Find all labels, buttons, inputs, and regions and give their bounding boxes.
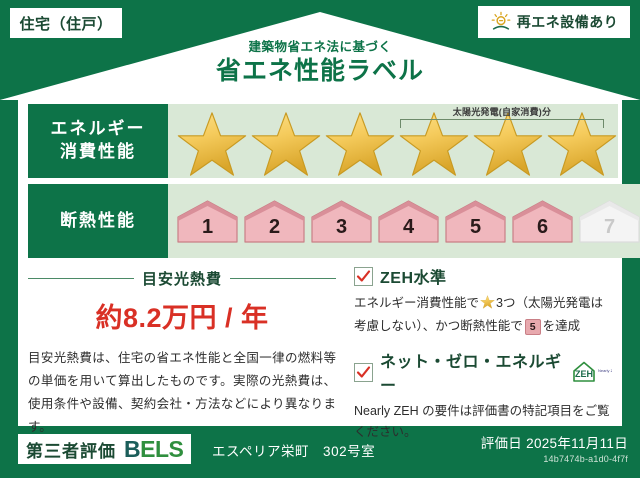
- insulation-level-3: 3: [310, 199, 373, 244]
- bels-logo: BELS: [124, 436, 183, 463]
- zeh-item-title: ZEH水準: [380, 264, 447, 288]
- svg-text:Nearly ZEH: Nearly ZEH: [598, 368, 612, 373]
- insulation-level-5: 5: [444, 199, 507, 244]
- sun-solar-icon: [490, 11, 512, 33]
- cost-column: 目安光熱費 約8.2万円 / 年 目安光熱費は、住宅の省エネ性能と全国一律の燃料…: [28, 264, 346, 424]
- document-id: 14b7474b-a1d0-4f7f: [481, 454, 628, 464]
- cost-heading-row: 目安光熱費: [28, 268, 336, 289]
- label-title-block: 建築物省エネ法に基づく 省エネ性能ラベル: [0, 40, 640, 87]
- insulation-level-2: 2: [243, 199, 306, 244]
- energy-star-4: [398, 110, 470, 178]
- insulation-level-6: 6: [511, 199, 574, 244]
- energy-star-2: [250, 110, 322, 178]
- energy-star-3: [324, 110, 396, 178]
- zeh-item-description: エネルギー消費性能で3つ（太陽光発電は考慮しない）、かつ断熱性能で5を達成: [354, 293, 612, 336]
- bels-logo-els: ELS: [140, 436, 183, 462]
- zeh-house-logo: ZEHNearly ZEH: [570, 359, 612, 385]
- bels-logo-b: B: [124, 436, 140, 462]
- estimated-cost-value: 約8.2万円 / 年: [28, 296, 336, 335]
- zeh-column: ZEH水準エネルギー消費性能で3つ（太陽光発電は考慮しない）、かつ断熱性能で5を…: [346, 264, 612, 424]
- insulation-level-number: 3: [310, 216, 373, 239]
- renewable-equipment-text: 再エネ設備あり: [517, 12, 619, 32]
- star-icon: [480, 298, 495, 312]
- insulation-label-text: 断熱性能: [60, 210, 136, 233]
- zeh-checkbox[interactable]: [354, 267, 373, 286]
- svg-text:ZEH: ZEH: [575, 369, 593, 379]
- insulation-level-number: 6: [511, 216, 574, 239]
- rule-right: [230, 278, 336, 279]
- energy-performance-row: エネルギー 消費性能 太陽光発電(自家消費)分: [28, 104, 612, 178]
- energy-star-strip: [168, 110, 618, 178]
- zeh-item-title: ネット・ゼロ・エネルギー: [380, 348, 563, 396]
- bottom-section: 目安光熱費 約8.2万円 / 年 目安光熱費は、住宅の省エネ性能と全国一律の燃料…: [28, 264, 612, 424]
- energy-label-line1: エネルギー: [51, 118, 146, 141]
- dwelling-type-badge: 住宅（住戸）: [10, 8, 122, 38]
- footer-meta: 評価日 2025年11月11日 14b7474b-a1d0-4f7f: [481, 432, 628, 464]
- energy-star-5: [472, 110, 544, 178]
- insulation-level-pill: 5: [525, 319, 541, 335]
- insulation-performance-label: 断熱性能: [28, 184, 168, 258]
- insulation-level-number: 7: [578, 216, 640, 239]
- insulation-level-4: 4: [377, 199, 440, 244]
- rule-left: [28, 278, 134, 279]
- page-title: 省エネ性能ラベル: [0, 56, 640, 87]
- evaluation-date: 評価日 2025年11月11日: [481, 432, 628, 452]
- energy-label-line2: 消費性能: [60, 141, 136, 164]
- insulation-level-number: 2: [243, 216, 306, 239]
- title-subtitle: 建築物省エネ法に基づく: [0, 40, 640, 55]
- energy-performance-label: エネルギー 消費性能: [28, 104, 168, 178]
- zeh-item-header: ネット・ゼロ・エネルギーZEHNearly ZEH: [354, 348, 612, 396]
- insulation-level-1: 1: [176, 199, 239, 244]
- insulation-performance-body: 1234567: [168, 184, 640, 258]
- zeh-checkbox[interactable]: [354, 363, 373, 382]
- zeh-item-header: ZEH水準: [354, 264, 612, 288]
- footer-bar: 第三者評価 BELS エスペリア栄町 302号室 評価日 2025年11月11日…: [0, 426, 640, 478]
- insulation-level-7: 7: [578, 199, 640, 244]
- insulation-level-strip: 1234567: [168, 199, 640, 244]
- energy-performance-label: 住宅（住戸） 再エネ設備あり 建築物省エネ法に基づく 省エネ性能ラベル: [0, 0, 640, 478]
- property-name: エスペリア栄町 302号室: [212, 440, 375, 460]
- insulation-level-number: 4: [377, 216, 440, 239]
- content-panel: エネルギー 消費性能 太陽光発電(自家消費)分 断熱性能 1234567: [18, 96, 622, 426]
- renewable-equipment-badge: 再エネ設備あり: [478, 6, 630, 38]
- energy-star-6: [546, 110, 618, 178]
- third-party-eval-label: 第三者評価: [26, 437, 116, 462]
- insulation-level-number: 5: [444, 216, 507, 239]
- energy-performance-body: 太陽光発電(自家消費)分: [168, 104, 618, 178]
- bels-certification-box: 第三者評価 BELS: [18, 434, 191, 464]
- cost-heading-text: 目安光熱費: [142, 268, 222, 289]
- insulation-performance-row: 断熱性能 1234567: [28, 184, 612, 258]
- insulation-level-number: 1: [176, 216, 239, 239]
- zeh-item-1: ZEH水準エネルギー消費性能で3つ（太陽光発電は考慮しない）、かつ断熱性能で5を…: [354, 264, 612, 336]
- energy-star-1: [176, 110, 248, 178]
- dwelling-type-text: 住宅（住戸）: [19, 13, 112, 34]
